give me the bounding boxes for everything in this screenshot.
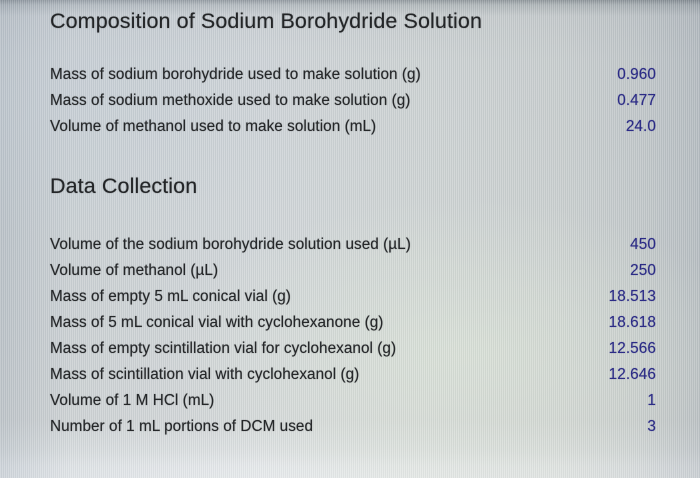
- document-page: Composition of Sodium Borohydride Soluti…: [0, 0, 700, 478]
- table-row: Mass of sodium borohydride used to make …: [50, 62, 656, 88]
- row-value: 0.960: [617, 62, 656, 88]
- row-value: 24.0: [626, 114, 656, 140]
- composition-table: Mass of sodium borohydride used to make …: [50, 62, 656, 140]
- row-value: 12.646: [609, 362, 656, 388]
- row-value: 450: [630, 232, 656, 258]
- table-row: Volume of methanol (µL) 250: [50, 258, 656, 284]
- table-row: Mass of 5 mL conical vial with cyclohexa…: [50, 310, 656, 336]
- table-row: Number of 1 mL portions of DCM used 3: [50, 414, 656, 440]
- table-row: Mass of sodium methoxide used to make so…: [50, 88, 656, 114]
- table-row: Volume of 1 M HCl (mL) 1: [50, 388, 656, 414]
- page-title: Composition of Sodium Borohydride Soluti…: [50, 9, 482, 34]
- table-row: Volume of the sodium borohydride solutio…: [50, 232, 656, 258]
- table-row: Mass of empty scintillation vial for cyc…: [50, 336, 656, 362]
- row-label: Volume of the sodium borohydride solutio…: [50, 232, 411, 258]
- section-heading-data-collection: Data Collection: [50, 174, 197, 199]
- row-value: 1: [647, 388, 656, 414]
- row-label: Mass of scintillation vial with cyclohex…: [50, 362, 359, 388]
- row-value: 18.513: [609, 284, 656, 310]
- data-collection-table: Volume of the sodium borohydride solutio…: [50, 232, 656, 440]
- row-value: 250: [630, 258, 656, 284]
- row-label: Number of 1 mL portions of DCM used: [50, 414, 313, 440]
- row-value: 18.618: [609, 310, 656, 336]
- row-label: Volume of methanol (µL): [50, 258, 218, 284]
- row-label: Mass of sodium methoxide used to make so…: [50, 88, 410, 114]
- row-label: Mass of sodium borohydride used to make …: [50, 62, 421, 88]
- row-value: 3: [647, 414, 656, 440]
- table-row: Volume of methanol used to make solution…: [50, 114, 656, 140]
- row-value: 12.566: [609, 336, 656, 362]
- row-label: Mass of 5 mL conical vial with cyclohexa…: [50, 310, 383, 336]
- row-label: Mass of empty scintillation vial for cyc…: [50, 336, 396, 362]
- row-value: 0.477: [617, 88, 656, 114]
- table-row: Mass of empty 5 mL conical vial (g) 18.5…: [50, 284, 656, 310]
- row-label: Volume of 1 M HCl (mL): [50, 388, 214, 414]
- row-label: Volume of methanol used to make solution…: [50, 114, 376, 140]
- table-row: Mass of scintillation vial with cyclohex…: [50, 362, 656, 388]
- row-label: Mass of empty 5 mL conical vial (g): [50, 284, 291, 310]
